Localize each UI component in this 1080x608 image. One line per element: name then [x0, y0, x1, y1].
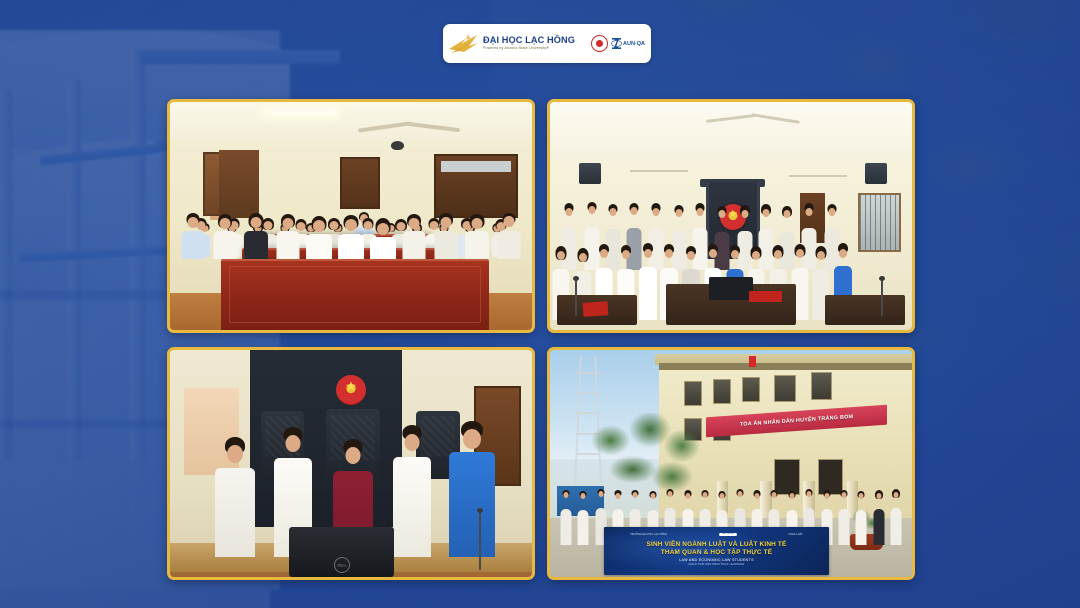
nameplate-icon [582, 301, 608, 316]
monitor-icon [709, 277, 752, 300]
nameplate-icon [749, 291, 782, 302]
university-name: ĐẠI HỌC LẠC HỒNG [483, 36, 575, 45]
aun-mark-icon [611, 37, 622, 50]
audience-row-front [177, 207, 525, 266]
photo-frame-students-with-judge[interactable] [167, 347, 535, 581]
accreditation-seal-icon [591, 35, 608, 52]
ceiling-fan-icon [706, 109, 800, 127]
photo-frame-courtroom-audience[interactable] [167, 99, 535, 333]
aun-qa-badge-icon: AUN-QA [611, 37, 645, 50]
microphone-icon [881, 279, 883, 315]
university-tagline: Powered by Arizona State University® [483, 47, 575, 51]
logo-wordmark: ĐẠI HỌC LẠC HỒNG Powered by Arizona Stat… [483, 36, 575, 50]
monitor-icon [289, 527, 394, 577]
event-banner: TRƯỜNG ĐẠI HỌC LẠC HỒNG LẠC HỒNG KHOA LU… [604, 527, 828, 575]
banner-line-3: LAW AND ECONOMIC LAW STUDENTS [679, 558, 754, 562]
ceiling-fan-icon [789, 170, 847, 181]
speaker-icon [865, 163, 887, 183]
accreditation-badges: AUN-QA [591, 35, 645, 52]
aun-qa-label: AUN-QA [623, 41, 645, 47]
courthouse-sign-text: TÒA ÁN NHÂN DÂN HUYỆN TRẢNG BOM [739, 414, 853, 428]
dell-logo-icon [334, 557, 350, 573]
courthouse-exterior-image: TÒA ÁN NHÂN DÂN HUYỆN TRẢNG BOM [550, 350, 912, 578]
banner-line-1: SINH VIÊN NGÀNH LUẬT VÀ LUẬT KINH TẾ [647, 541, 787, 548]
photo-frame-courtroom-group[interactable] [547, 99, 915, 333]
banner-top-center: LẠC HỒNG [719, 533, 736, 536]
ceiling-fan-icon [358, 118, 459, 134]
photo-frame-courthouse-exterior[interactable]: TÒA ÁN NHÂN DÂN HUYỆN TRẢNG BOM [547, 347, 915, 581]
logo-left-group: ĐẠI HỌC LẠC HỒNG Powered by Arizona Stat… [447, 31, 591, 57]
university-logo-bar: ĐẠI HỌC LẠC HỒNG Powered by Arizona Stat… [443, 24, 651, 63]
photo-gallery-grid: TÒA ÁN NHÂN DÂN HUYỆN TRẢNG BOM [167, 99, 915, 580]
banner-line-4: FIELD TRIP AND PRACTICAL LEARNING [689, 563, 745, 566]
vietnam-flag-icon [749, 356, 756, 367]
speaker-icon [579, 163, 601, 183]
students-with-judge-image [170, 350, 532, 578]
ceiling-fan-icon [630, 166, 688, 177]
lac-hong-bird-logo-icon [447, 31, 481, 57]
banner-top-left: TRƯỜNG ĐẠI HỌC LẠC HỒNG [630, 533, 667, 536]
courtroom-audience-image [170, 102, 532, 330]
banner-header-row: TRƯỜNG ĐẠI HỌC LẠC HỒNG LẠC HỒNG KHOA LU… [604, 530, 828, 539]
dome-camera-icon [391, 141, 404, 150]
student-1 [206, 393, 264, 557]
banner-line-2: THAM QUAN & HỌC TẬP THỰC TẾ [661, 549, 772, 556]
banner-top-right: KHOA LUẬT [788, 533, 802, 536]
courtroom-group-image [550, 102, 912, 330]
student-5 [441, 393, 503, 557]
